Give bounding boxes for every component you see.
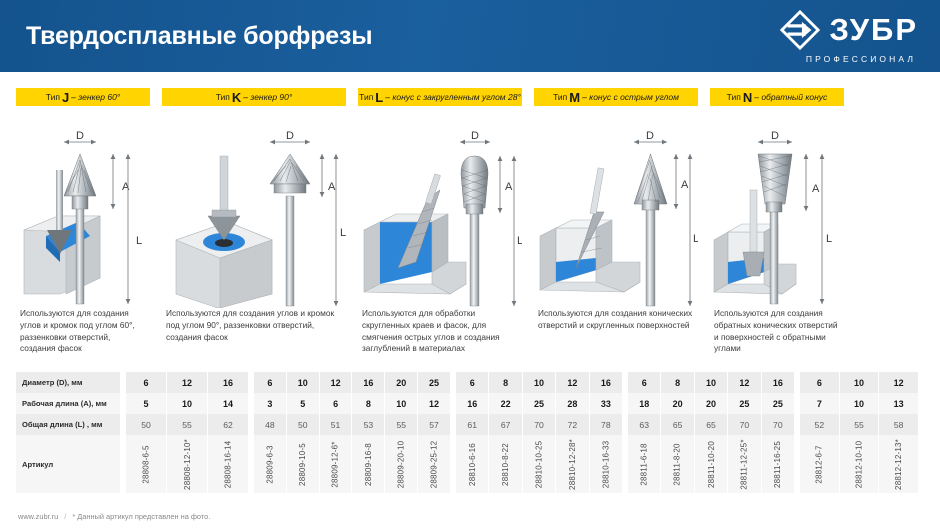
type-letter-n: N xyxy=(743,91,752,104)
table-cell: 10 xyxy=(385,393,418,414)
table-row-diameter-l: 68101216 xyxy=(456,372,622,393)
table-cell: 28 xyxy=(556,393,589,414)
type-prefix-l: Тип xyxy=(359,92,373,102)
article-cell: 28811-10-20 xyxy=(695,435,728,493)
dimension-a-k xyxy=(320,154,325,197)
table-cell: 8 xyxy=(489,372,522,393)
article-cell: 28809-12-6* xyxy=(320,435,353,493)
table-cell: 12 xyxy=(167,372,208,393)
dimension-a-n xyxy=(804,154,809,211)
table-row-diameter-n: 61012 xyxy=(800,372,918,393)
type-column-n: Тип N – обратный конус xyxy=(704,88,850,362)
footer-note: * Данный артикул представлен на фото. xyxy=(72,512,210,521)
dimension-l-n xyxy=(820,154,825,304)
table-cell: 70 xyxy=(523,414,556,435)
footer-website[interactable]: www.zubr.ru xyxy=(18,512,58,521)
article-cell: 28810-16-33 xyxy=(590,435,622,493)
article-cell: 28808-6-5 xyxy=(126,435,167,493)
table-cell: 16 xyxy=(762,372,794,393)
illustration-l: D A L xyxy=(358,112,522,308)
table-row-working-length-k: 35681012 xyxy=(254,393,450,414)
table-cell: 16 xyxy=(208,372,248,393)
table-cell: 33 xyxy=(590,393,622,414)
table-row-total-length-l: 6167707278 xyxy=(456,414,622,435)
type-letter-m: M xyxy=(569,91,580,104)
table-cell: 61 xyxy=(456,414,489,435)
table-cell: 22 xyxy=(489,393,522,414)
dim-label-l-m: L xyxy=(693,233,698,245)
table-cell: 67 xyxy=(489,414,522,435)
table-cell: 63 xyxy=(628,414,661,435)
table-cell: 12 xyxy=(879,372,918,393)
illustration-m: D A L xyxy=(534,112,698,308)
article-number: 28812-12-13* xyxy=(894,439,903,490)
type-letter-j: J xyxy=(62,91,69,104)
table-cell: 5 xyxy=(126,393,167,414)
article-number: 28810-6-16 xyxy=(468,443,477,486)
type-suffix-n: – обратный конус xyxy=(754,92,827,102)
dimension-a-l xyxy=(498,156,503,213)
illustration-k: D A L xyxy=(162,112,346,308)
dim-label-l-n: L xyxy=(826,233,832,245)
page-title: Твердосплавные борфрезы xyxy=(26,22,372,51)
table-cell: 7 xyxy=(800,393,840,414)
table-row-total-length-n: 525558 xyxy=(800,414,918,435)
table-cell: 65 xyxy=(661,414,694,435)
table-cell: 52 xyxy=(800,414,840,435)
table-cell: 57 xyxy=(418,414,450,435)
table-row-diameter-m: 68101216 xyxy=(628,372,794,393)
article-cell: 28811-8-20 xyxy=(661,435,694,493)
table-cell: 14 xyxy=(208,393,248,414)
tool-profile-k xyxy=(270,154,310,306)
table-cell: 48 xyxy=(254,414,287,435)
table-row-working-length-j: 51014 xyxy=(126,393,248,414)
page-header: Твердосплавные борфрезы ЗУБР ПРОФЕССИОНА… xyxy=(0,0,940,72)
dim-label-d-k: D xyxy=(286,130,294,142)
article-number: 28809-10-5 xyxy=(298,443,307,486)
dim-label-l-l: L xyxy=(517,235,522,247)
table-cell: 6 xyxy=(628,372,661,393)
page-footer: www.zubr.ru / * Данный артикул представл… xyxy=(18,512,210,521)
table-cell: 6 xyxy=(800,372,840,393)
table-cell: 10 xyxy=(167,393,208,414)
table-row-total-length-k: 485051535557 xyxy=(254,414,450,435)
article-number: 28808-6-5 xyxy=(142,445,151,483)
dim-label-d-n: D xyxy=(771,130,779,142)
table-cell: 10 xyxy=(840,372,880,393)
table-cell: 55 xyxy=(840,414,880,435)
article-cell: 28809-25-12 xyxy=(418,435,450,493)
description-m: Используются для создания конических отв… xyxy=(534,308,698,332)
article-cell: 28809-20-10 xyxy=(385,435,418,493)
type-suffix-m: – конус с острым углом xyxy=(582,92,679,102)
table-cell: 6 xyxy=(254,372,287,393)
table-cell: 20 xyxy=(695,393,728,414)
table-row-working-length-n: 71013 xyxy=(800,393,918,414)
table-cell: 53 xyxy=(352,414,385,435)
article-number: 28810-10-25 xyxy=(535,440,544,488)
table-cell: 58 xyxy=(879,414,918,435)
dim-label-a-k: A xyxy=(328,181,336,193)
table-cell: 51 xyxy=(320,414,353,435)
table-row-working-length-m: 1820202525 xyxy=(628,393,794,414)
table-row-working-length-l: 1622252833 xyxy=(456,393,622,414)
article-cell: 28808-12-10* xyxy=(167,435,208,493)
table-row-article-j: 28808-6-528808-12-10*28808-16-14 xyxy=(126,435,248,493)
dim-label-l-j: L xyxy=(136,235,142,247)
dim-label-d-l: D xyxy=(471,130,479,142)
table-cell: 25 xyxy=(523,393,556,414)
table-cell: 12 xyxy=(556,372,589,393)
footer-separator: / xyxy=(64,512,66,521)
article-number: 28809-12-6* xyxy=(331,441,340,487)
dimension-l-k xyxy=(334,154,339,306)
table-cell: 16 xyxy=(352,372,385,393)
article-number: 28811-8-20 xyxy=(673,443,682,485)
table-cell: 55 xyxy=(385,414,418,435)
article-cell: 28811-6-18 xyxy=(628,435,661,493)
type-column-k: Тип K – зенкер 90° xyxy=(156,88,352,362)
article-number: 28809-6-3 xyxy=(265,445,274,483)
description-j: Используются для создания углов и кромок… xyxy=(16,308,150,355)
table-cell: 10 xyxy=(695,372,728,393)
product-type-columns: Тип J – зенкер 60° xyxy=(0,72,940,362)
type-prefix-n: Тип xyxy=(727,92,741,102)
table-cell: 72 xyxy=(556,414,589,435)
table-cell: 78 xyxy=(590,414,622,435)
table-group-m: 681012161820202525636565707028811-6-1828… xyxy=(628,372,794,493)
description-n: Используются для создания обратных конич… xyxy=(710,308,844,355)
dimension-l-j xyxy=(126,154,131,304)
article-number: 28808-16-14 xyxy=(224,440,233,488)
dim-label-a-j: A xyxy=(122,181,130,193)
article-number: 28809-20-10 xyxy=(397,440,406,488)
table-cell: 6 xyxy=(456,372,489,393)
illustration-j: D A L xyxy=(16,112,150,308)
article-number: 28811-10-20 xyxy=(707,441,716,488)
dim-label-a-m: A xyxy=(681,179,689,191)
table-cell: 20 xyxy=(661,393,694,414)
table-cell: 70 xyxy=(762,414,794,435)
table-cell: 25 xyxy=(762,393,794,414)
table-row-diameter-k: 61012162025 xyxy=(254,372,450,393)
type-suffix-j: – зенкер 60° xyxy=(71,92,120,102)
table-row-article-l: 28810-6-1628810-8-2228810-10-2528810-12-… xyxy=(456,435,622,493)
article-number: 28811-16-25 xyxy=(773,441,782,488)
table-cell: 65 xyxy=(695,414,728,435)
table-cell: 25 xyxy=(728,393,761,414)
type-label-m: Тип M – конус с острым углом xyxy=(534,88,698,106)
table-row-article-k: 28809-6-328809-10-528809-12-6*28809-16-8… xyxy=(254,435,450,493)
dimension-a-m xyxy=(674,154,679,209)
table-row-total-length-m: 6365657070 xyxy=(628,414,794,435)
table-cell: 13 xyxy=(879,393,918,414)
article-number: 28810-16-33 xyxy=(601,440,610,488)
article-cell: 28810-10-25 xyxy=(523,435,556,493)
illustration-n: D A L xyxy=(710,112,844,308)
table-group-k: 610121620253568101248505153555728809-6-3… xyxy=(254,372,450,493)
article-number: 28810-8-22 xyxy=(501,443,510,486)
table-cell: 5 xyxy=(287,393,320,414)
article-number: 28808-12-10* xyxy=(183,439,192,490)
type-label-k: Тип K – зенкер 90° xyxy=(162,88,346,106)
brand-name: ЗУБР xyxy=(830,14,918,45)
table-cell: 20 xyxy=(385,372,418,393)
type-suffix-l: – конус с закругленным углом 28° xyxy=(385,92,521,102)
table-cell: 16 xyxy=(456,393,489,414)
table-cell: 50 xyxy=(287,414,320,435)
table-cell: 6 xyxy=(126,372,167,393)
type-prefix-j: Тип xyxy=(46,92,60,102)
table-cell: 10 xyxy=(840,393,880,414)
article-number: 28812-6-7 xyxy=(815,445,824,483)
table-cell: 6 xyxy=(320,393,353,414)
type-letter-l: L xyxy=(375,91,383,104)
article-cell: 28810-8-22 xyxy=(489,435,522,493)
article-number: 28809-16-8 xyxy=(364,443,373,486)
article-cell: 28811-12-25* xyxy=(728,435,761,493)
type-column-l: Тип L – конус с закругленным углом 28° xyxy=(352,88,528,362)
row-label-diameter: Диаметр (D), мм xyxy=(16,372,120,393)
row-label-total-length: Общая длина (L) , мм xyxy=(16,414,120,435)
row-label-article: Артикул xyxy=(16,435,120,493)
article-number: 28812-10-10 xyxy=(855,440,864,488)
table-row-article-m: 28811-6-1828811-8-2028811-10-2028811-12-… xyxy=(628,435,794,493)
type-suffix-k: – зенкер 90° xyxy=(243,92,292,102)
dimension-l-m xyxy=(688,154,693,306)
dim-label-a-n: A xyxy=(812,183,820,195)
type-column-m: Тип M – конус с острым углом xyxy=(528,88,704,362)
table-cell: 62 xyxy=(208,414,248,435)
table-row-diameter-j: 61216 xyxy=(126,372,248,393)
article-number: 28810-12-28* xyxy=(568,439,577,490)
type-prefix-k: Тип xyxy=(216,92,230,102)
type-label-j: Тип J – зенкер 60° xyxy=(16,88,150,106)
table-cell: 50 xyxy=(126,414,167,435)
dim-label-l-k: L xyxy=(340,227,346,239)
article-cell: 28812-12-13* xyxy=(879,435,918,493)
table-cell: 70 xyxy=(728,414,761,435)
article-number: 28809-25-12 xyxy=(430,440,439,488)
type-letter-k: K xyxy=(232,91,241,104)
table-group-n: 610127101352555828812-6-728812-10-102881… xyxy=(800,372,918,493)
article-number: 28811-12-25* xyxy=(740,439,749,489)
type-prefix-m: Тип xyxy=(553,92,567,102)
article-cell: 28810-6-16 xyxy=(456,435,489,493)
table-cell: 12 xyxy=(728,372,761,393)
article-cell: 28809-6-3 xyxy=(254,435,287,493)
table-cell: 8 xyxy=(661,372,694,393)
table-cell: 10 xyxy=(287,372,320,393)
article-cell: 28809-16-8 xyxy=(352,435,385,493)
article-cell: 28809-10-5 xyxy=(287,435,320,493)
tool-profile-m xyxy=(634,154,667,306)
table-cell: 25 xyxy=(418,372,450,393)
article-cell: 28812-6-7 xyxy=(800,435,840,493)
specification-table: Диаметр (D), мм Рабочая длина (A), мм Об… xyxy=(16,372,926,493)
brand-subtitle: ПРОФЕССИОНАЛ xyxy=(806,54,916,64)
dimension-a-j xyxy=(111,154,116,209)
table-cell: 3 xyxy=(254,393,287,414)
table-group-l: 681012161622252833616770727828810-6-1628… xyxy=(456,372,622,493)
dim-label-a-l: A xyxy=(505,181,513,193)
table-cell: 10 xyxy=(523,372,556,393)
table-cell: 12 xyxy=(320,372,353,393)
table-row-labels: Диаметр (D), мм Рабочая длина (A), мм Об… xyxy=(16,372,120,493)
type-label-l: Тип L – конус с закругленным углом 28° xyxy=(358,88,522,106)
article-cell: 28808-16-14 xyxy=(208,435,248,493)
article-cell: 28810-12-28* xyxy=(556,435,589,493)
article-number: 28811-6-18 xyxy=(640,443,649,485)
dim-label-d-m: D xyxy=(646,130,654,142)
table-cell: 55 xyxy=(167,414,208,435)
article-cell: 28811-16-25 xyxy=(762,435,794,493)
type-column-j: Тип J – зенкер 60° xyxy=(10,88,156,362)
row-label-working-length: Рабочая длина (A), мм xyxy=(16,393,120,414)
table-cell: 18 xyxy=(628,393,661,414)
table-group-j: 612165101450556228808-6-528808-12-10*288… xyxy=(126,372,248,493)
brand-logo: ЗУБР ПРОФЕССИОНАЛ xyxy=(779,9,918,64)
article-cell: 28812-10-10 xyxy=(840,435,880,493)
table-row-total-length-j: 505562 xyxy=(126,414,248,435)
dimension-l-l xyxy=(512,156,517,306)
table-cell: 16 xyxy=(590,372,622,393)
table-cell: 12 xyxy=(418,393,450,414)
table-row-article-n: 28812-6-728812-10-1028812-12-13* xyxy=(800,435,918,493)
type-label-n: Тип N – обратный конус xyxy=(710,88,844,106)
description-l: Используются для обработки скругленных к… xyxy=(358,308,522,355)
description-k: Используются для создания углов и кромок… xyxy=(162,308,346,343)
dim-label-d-j: D xyxy=(76,130,84,142)
zubr-arrow-diamond-icon xyxy=(779,9,821,51)
table-cell: 8 xyxy=(352,393,385,414)
